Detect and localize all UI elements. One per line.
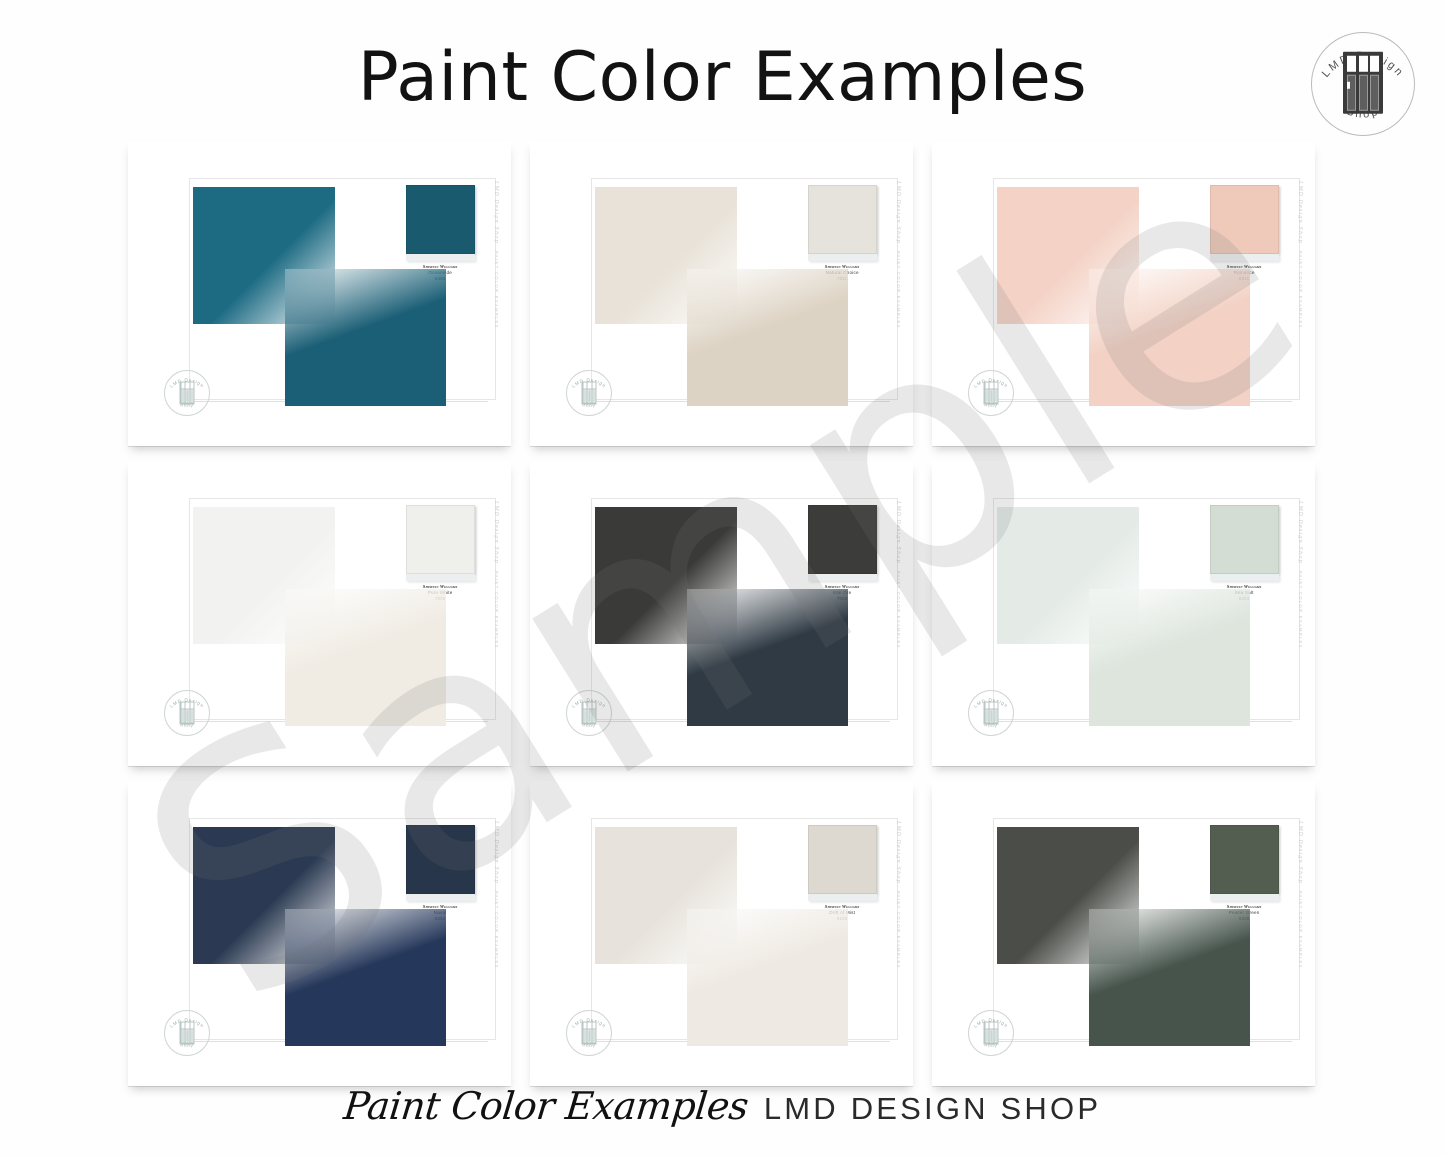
card-logo-badge: LMD Design Shop bbox=[968, 370, 1014, 416]
side-caption-script: LMD Design Shop bbox=[895, 821, 901, 884]
door-icon bbox=[180, 1021, 195, 1044]
side-caption-script: LMD Design Shop bbox=[493, 821, 499, 884]
paint-card[interactable]: Sherwin Williams Pure White 7005 LMD Des… bbox=[128, 461, 511, 766]
paint-swatch bbox=[808, 825, 877, 894]
side-caption-script: LMD Design Shop bbox=[895, 501, 901, 564]
paint-chip[interactable]: Sherwin Williams Natural Choice 7011 bbox=[808, 185, 877, 281]
card-logo-badge: LMD Design Shop bbox=[566, 1010, 612, 1056]
card-side-caption: LMD Design Shop PAINT COLOR EXAMPLES bbox=[493, 501, 499, 690]
card-logo-badge: LMD Design Shop bbox=[566, 690, 612, 736]
side-caption-caps: PAINT COLOR EXAMPLES bbox=[896, 891, 901, 969]
paint-card[interactable]: Sherwin Williams Oceanside 6496 LMD Desi… bbox=[128, 141, 511, 446]
room-photo-secondary bbox=[1089, 589, 1250, 726]
room-photo-secondary bbox=[1089, 909, 1250, 1046]
paint-swatch bbox=[1210, 185, 1279, 254]
door-icon bbox=[984, 1021, 999, 1044]
poster-canvas: Paint Color Examples LMD Design Shop bbox=[0, 0, 1445, 1156]
paint-card[interactable]: Sherwin Williams Drift of Mist 9166 LMD … bbox=[530, 781, 913, 1086]
footer-shop-name: LMD DESIGN SHOP bbox=[764, 1091, 1101, 1127]
side-caption-script: LMD Design Shop bbox=[895, 181, 901, 244]
paint-swatch bbox=[1210, 505, 1279, 574]
paint-chip[interactable]: Sherwin Williams Iron Ore 7069 bbox=[808, 505, 877, 601]
paint-chip-base bbox=[406, 894, 475, 901]
side-caption-script: LMD Design Shop bbox=[493, 501, 499, 564]
paint-swatch bbox=[406, 185, 475, 254]
door-icon bbox=[582, 381, 597, 404]
paint-chip[interactable]: Sherwin Williams Oceanside 6496 bbox=[406, 185, 475, 281]
paint-chip[interactable]: Sherwin Williams Drift of Mist 9166 bbox=[808, 825, 877, 921]
paint-chip-base bbox=[808, 574, 877, 581]
card-logo-badge: LMD Design Shop bbox=[164, 1010, 210, 1056]
side-caption-caps: PAINT COLOR EXAMPLES bbox=[494, 891, 499, 969]
paint-card[interactable]: Sherwin Williams Naval 6244 LMD Design S… bbox=[128, 781, 511, 1086]
card-side-caption: LMD Design Shop PAINT COLOR EXAMPLES bbox=[493, 181, 499, 370]
side-caption-caps: PAINT COLOR EXAMPLES bbox=[1298, 571, 1303, 649]
paint-swatch bbox=[808, 185, 877, 254]
page-title: Paint Color Examples bbox=[0, 38, 1445, 117]
paint-card[interactable]: Sherwin Williams Pewter Green 6208 LMD D… bbox=[932, 781, 1315, 1086]
paint-swatch bbox=[406, 505, 475, 574]
room-photo-secondary bbox=[1089, 269, 1250, 406]
side-caption-caps: PAINT COLOR EXAMPLES bbox=[1298, 251, 1303, 329]
room-photo-secondary bbox=[285, 589, 446, 726]
paint-chip-base bbox=[808, 894, 877, 901]
card-side-caption: LMD Design Shop PAINT COLOR EXAMPLES bbox=[895, 821, 901, 1010]
card-logo-badge: LMD Design Shop bbox=[164, 370, 210, 416]
paint-swatch bbox=[1210, 825, 1279, 894]
card-side-caption: LMD Design Shop PAINT COLOR EXAMPLES bbox=[1297, 821, 1303, 1010]
card-logo-badge: LMD Design Shop bbox=[164, 690, 210, 736]
card-side-caption: LMD Design Shop PAINT COLOR EXAMPLES bbox=[1297, 181, 1303, 370]
side-caption-caps: PAINT COLOR EXAMPLES bbox=[494, 251, 499, 329]
paint-swatch bbox=[406, 825, 475, 894]
side-caption-caps: PAINT COLOR EXAMPLES bbox=[1298, 891, 1303, 969]
footer-script-text: Paint Color Examples bbox=[341, 1084, 750, 1128]
room-photo-secondary bbox=[687, 909, 848, 1046]
side-caption-caps: PAINT COLOR EXAMPLES bbox=[896, 251, 901, 329]
paint-chip[interactable]: Sherwin Williams Pure White 7005 bbox=[406, 505, 475, 601]
brand-logo-badge: LMD Design Shop bbox=[1303, 24, 1423, 144]
paint-card[interactable]: Sherwin Williams Romance 6311 LMD Design… bbox=[932, 141, 1315, 446]
side-caption-script: LMD Design Shop bbox=[1297, 821, 1303, 884]
door-icon bbox=[180, 381, 195, 404]
side-caption-script: LMD Design Shop bbox=[1297, 181, 1303, 244]
card-side-caption: LMD Design Shop PAINT COLOR EXAMPLES bbox=[895, 501, 901, 690]
footer: Paint Color Examples LMD DESIGN SHOP bbox=[0, 1084, 1445, 1128]
paint-chip-base bbox=[1210, 574, 1279, 581]
side-caption-script: LMD Design Shop bbox=[1297, 501, 1303, 564]
paint-chip-base bbox=[1210, 894, 1279, 901]
door-icon bbox=[582, 1021, 597, 1044]
paint-chip[interactable]: Sherwin Williams Naval 6244 bbox=[406, 825, 475, 921]
room-photo-secondary bbox=[687, 589, 848, 726]
paint-card[interactable]: Sherwin Williams Sea Salt 6204 LMD Desig… bbox=[932, 461, 1315, 766]
room-photo-secondary bbox=[687, 269, 848, 406]
paint-card-grid: Sherwin Williams Oceanside 6496 LMD Desi… bbox=[128, 141, 1318, 1086]
card-logo-badge: LMD Design Shop bbox=[968, 690, 1014, 736]
paint-card[interactable]: Sherwin Williams Natural Choice 7011 LMD… bbox=[530, 141, 913, 446]
paint-card[interactable]: Sherwin Williams Iron Ore 7069 LMD Desig… bbox=[530, 461, 913, 766]
paint-chip[interactable]: Sherwin Williams Pewter Green 6208 bbox=[1210, 825, 1279, 921]
card-side-caption: LMD Design Shop PAINT COLOR EXAMPLES bbox=[895, 181, 901, 370]
paint-chip[interactable]: Sherwin Williams Romance 6311 bbox=[1210, 185, 1279, 281]
paint-chip[interactable]: Sherwin Williams Sea Salt 6204 bbox=[1210, 505, 1279, 601]
room-photo-secondary bbox=[285, 269, 446, 406]
side-caption-caps: PAINT COLOR EXAMPLES bbox=[896, 571, 901, 649]
card-side-caption: LMD Design Shop PAINT COLOR EXAMPLES bbox=[493, 821, 499, 1010]
door-icon bbox=[180, 701, 195, 724]
paint-swatch bbox=[808, 505, 877, 574]
side-caption-script: LMD Design Shop bbox=[493, 181, 499, 244]
door-icon bbox=[582, 701, 597, 724]
door-icon bbox=[984, 381, 999, 404]
paint-chip-base bbox=[406, 254, 475, 261]
card-side-caption: LMD Design Shop PAINT COLOR EXAMPLES bbox=[1297, 501, 1303, 690]
card-logo-badge: LMD Design Shop bbox=[566, 370, 612, 416]
door-icon bbox=[984, 701, 999, 724]
paint-chip-base bbox=[1210, 254, 1279, 261]
card-logo-badge: LMD Design Shop bbox=[968, 1010, 1014, 1056]
door-icon bbox=[1343, 52, 1383, 114]
side-caption-caps: PAINT COLOR EXAMPLES bbox=[494, 571, 499, 649]
paint-chip-base bbox=[808, 254, 877, 261]
room-photo-secondary bbox=[285, 909, 446, 1046]
paint-chip-base bbox=[406, 574, 475, 581]
